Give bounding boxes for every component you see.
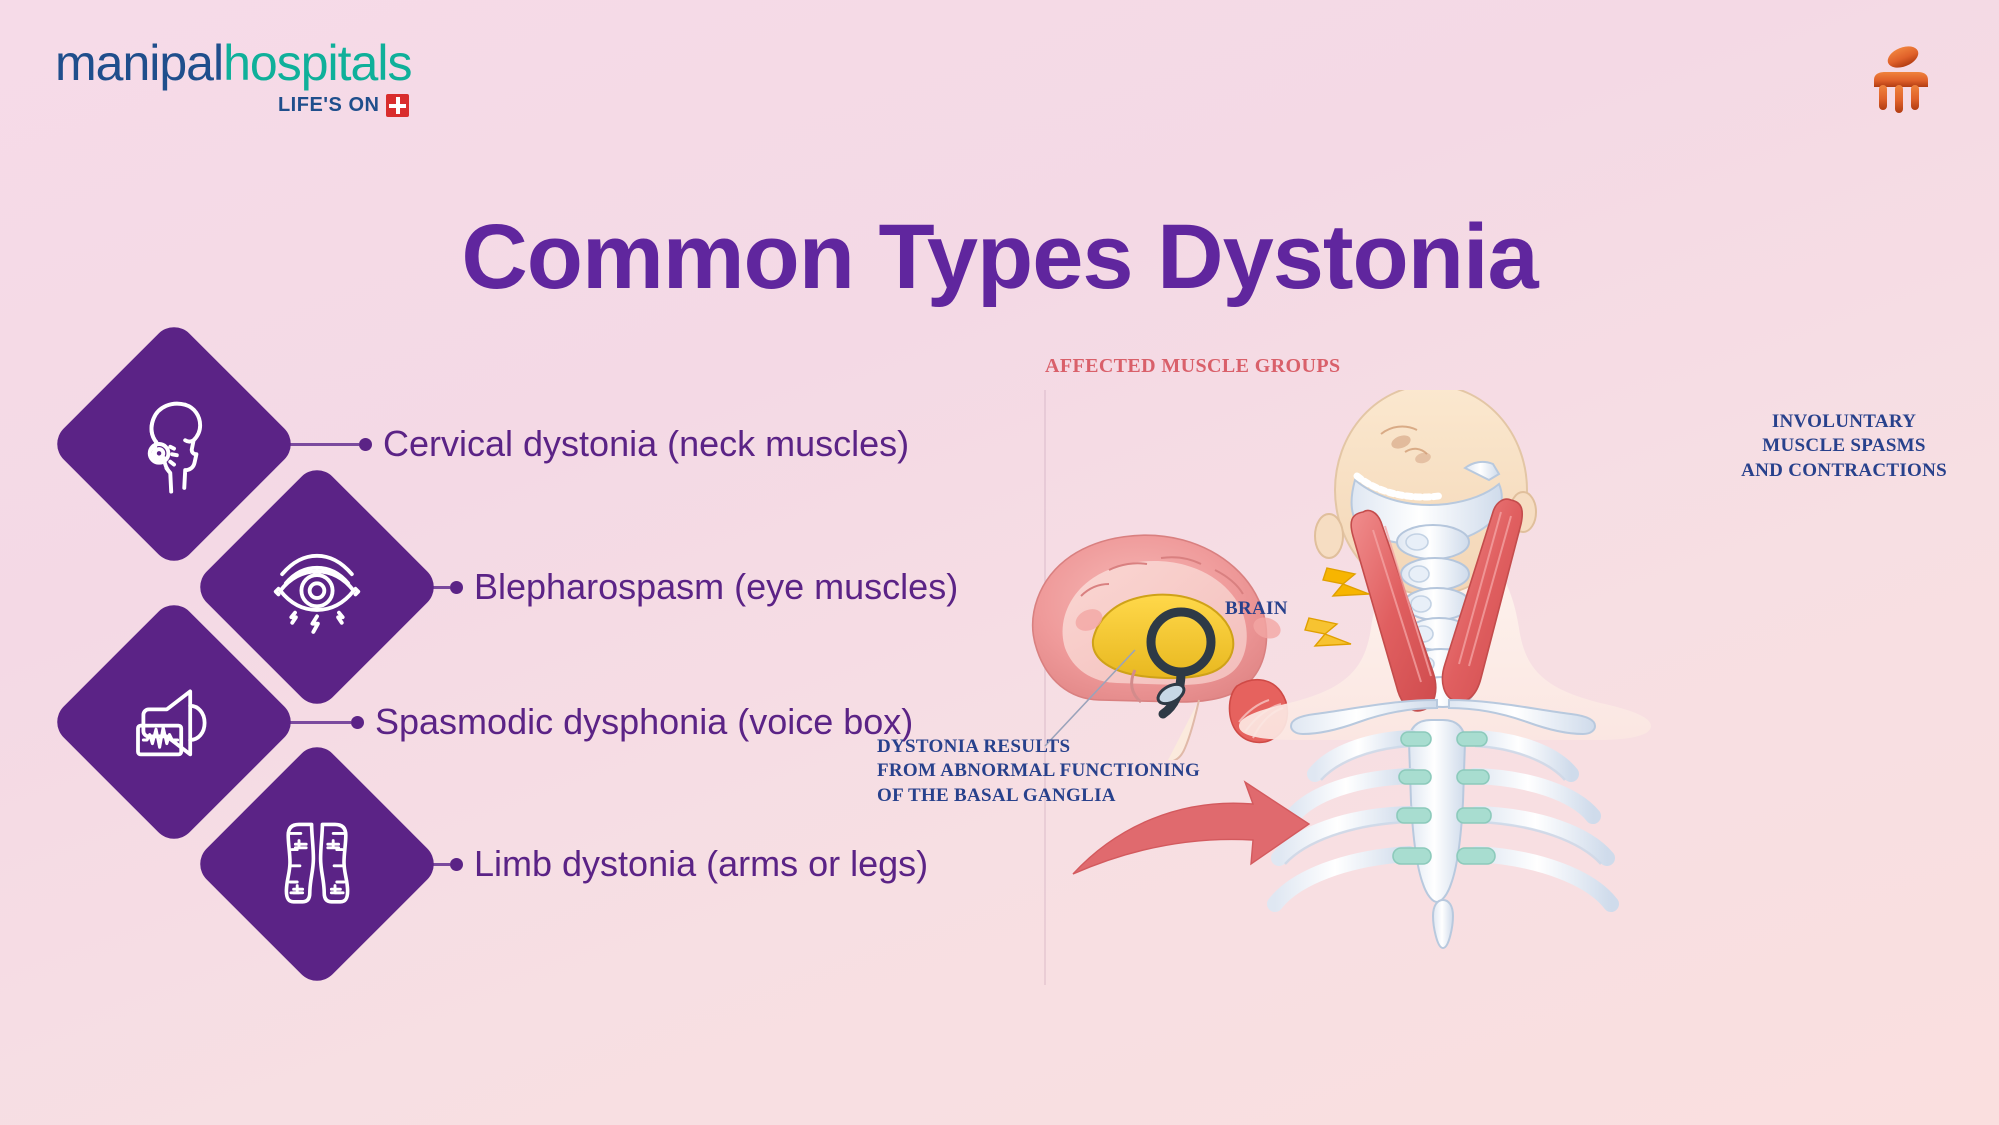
red-cross-icon <box>386 94 409 117</box>
logo-tagline-row: LIFE'S ON <box>55 94 411 117</box>
skull-cervical-spine-ribcage-illustration <box>1205 390 1685 990</box>
logo-wordmark: manipalhospitals <box>55 38 411 88</box>
dystonia-type-label: Cervical dystonia (neck muscles) <box>383 423 909 465</box>
row-bullet <box>450 581 463 594</box>
dystonia-types-panel: Cervical dystonia (neck muscles) Blephar… <box>0 355 1045 1075</box>
annotation-line: OF THE BASAL GANGLIA <box>877 784 1200 808</box>
annotation-affected-muscle-groups: AFFECTED MUSCLE GROUPS <box>1045 355 1999 378</box>
annotation-line: INVOLUNTARY <box>1741 410 1947 434</box>
page-header: manipalhospitals LIFE'S ON <box>0 0 1999 150</box>
annotation-basal-ganglia: DYSTONIA RESULTS FROM ABNORMAL FUNCTIONI… <box>877 735 1200 808</box>
page-title: Common Types Dystonia <box>0 205 1999 310</box>
annotation-line: AND CONTRACTIONS <box>1741 459 1947 483</box>
manipal-hospitals-logo[interactable]: manipalhospitals LIFE'S ON <box>55 38 411 117</box>
logo-word-manipal: manipal <box>55 35 223 91</box>
manipal-brand-mark-icon <box>1861 40 1941 120</box>
annotation-line: MUSCLE SPASMS <box>1741 434 1947 458</box>
row-bullet <box>450 858 463 871</box>
row-bullet <box>359 438 372 451</box>
logo-word-hospitals: hospitals <box>223 35 411 91</box>
legs-limbs-icon <box>191 738 443 990</box>
anatomy-illustration-panel: INVOLUNTARY MUSCLE SPASMS AND CONTRACTIO… <box>1045 355 1999 1075</box>
dystonia-type-label: Limb dystonia (arms or legs) <box>474 843 928 885</box>
annotation-line: FROM ABNORMAL FUNCTIONING <box>877 759 1200 783</box>
lightning-bolt-icon <box>1305 568 1369 646</box>
logo-tagline: LIFE'S ON <box>278 94 379 117</box>
row-bullet <box>351 716 364 729</box>
annotation-line: DYSTONIA RESULTS <box>877 735 1200 759</box>
dystonia-type-row[interactable]: Limb dystonia (arms or legs) <box>228 775 928 953</box>
annotation-brain: BRAIN <box>1225 597 1288 621</box>
annotation-involuntary-spasms: INVOLUNTARY MUSCLE SPASMS AND CONTRACTIO… <box>1741 410 1947 483</box>
dystonia-type-label: Spasmodic dysphonia (voice box) <box>375 701 913 743</box>
dystonia-type-label: Blepharospasm (eye muscles) <box>474 566 958 608</box>
